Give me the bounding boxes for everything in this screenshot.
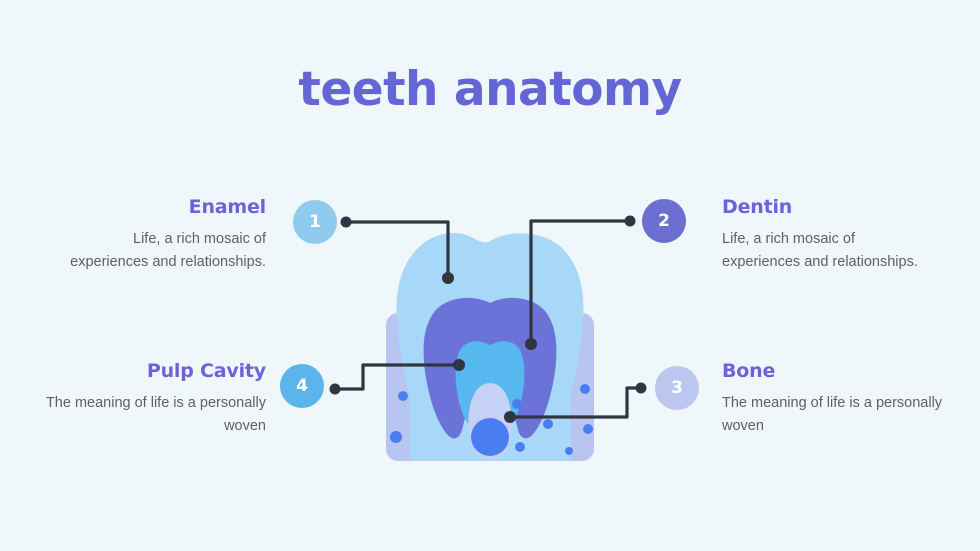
- label-body-enamel: Life, a rich mosaic of experiences and r…: [54, 228, 266, 275]
- connector-dot-4-end: [453, 359, 465, 371]
- label-body-pulp-cavity: The meaning of life is a personally wove…: [40, 392, 266, 439]
- connector-dot-1-end: [442, 272, 454, 284]
- bone-dot-large: [471, 418, 509, 456]
- badge-1[interactable]: 1: [293, 200, 337, 244]
- slide-root: teeth anatomy: [0, 0, 980, 551]
- connector-dot-2-end: [525, 338, 537, 350]
- connector-dot-3-start: [636, 383, 647, 394]
- bone-dot: [580, 384, 590, 394]
- label-body-bone: The meaning of life is a personally wove…: [722, 392, 948, 439]
- bone-dot: [565, 447, 573, 455]
- badge-4[interactable]: 4: [280, 364, 324, 408]
- connector-dot-2-start: [625, 216, 636, 227]
- badge-4-number: 4: [296, 376, 308, 396]
- label-heading-dentin: Dentin: [722, 196, 934, 218]
- label-block-pulp-cavity: Pulp Cavity The meaning of life is a per…: [40, 360, 266, 439]
- connector-dot-1-start: [341, 217, 352, 228]
- badge-2[interactable]: 2: [642, 199, 686, 243]
- label-block-enamel: Enamel Life, a rich mosaic of experience…: [54, 196, 266, 275]
- badge-3[interactable]: 3: [655, 366, 699, 410]
- badge-1-number: 1: [309, 212, 321, 232]
- bone-dot: [398, 391, 408, 401]
- label-body-dentin: Life, a rich mosaic of experiences and r…: [722, 228, 934, 275]
- connector-dot-4-start: [330, 384, 341, 395]
- bone-dot: [515, 442, 525, 452]
- label-heading-pulp-cavity: Pulp Cavity: [40, 360, 266, 382]
- bone-dot: [583, 424, 593, 434]
- bone-dot: [390, 431, 402, 443]
- badge-3-number: 3: [671, 378, 683, 398]
- label-block-dentin: Dentin Life, a rich mosaic of experience…: [722, 196, 934, 275]
- bone-dot: [543, 419, 553, 429]
- badge-2-number: 2: [658, 211, 670, 231]
- label-heading-enamel: Enamel: [54, 196, 266, 218]
- connector-dot-3-end: [504, 411, 516, 423]
- label-block-bone: Bone The meaning of life is a personally…: [722, 360, 948, 439]
- label-heading-bone: Bone: [722, 360, 948, 382]
- tooth-illustration: [0, 0, 980, 551]
- bone-dot: [512, 399, 522, 409]
